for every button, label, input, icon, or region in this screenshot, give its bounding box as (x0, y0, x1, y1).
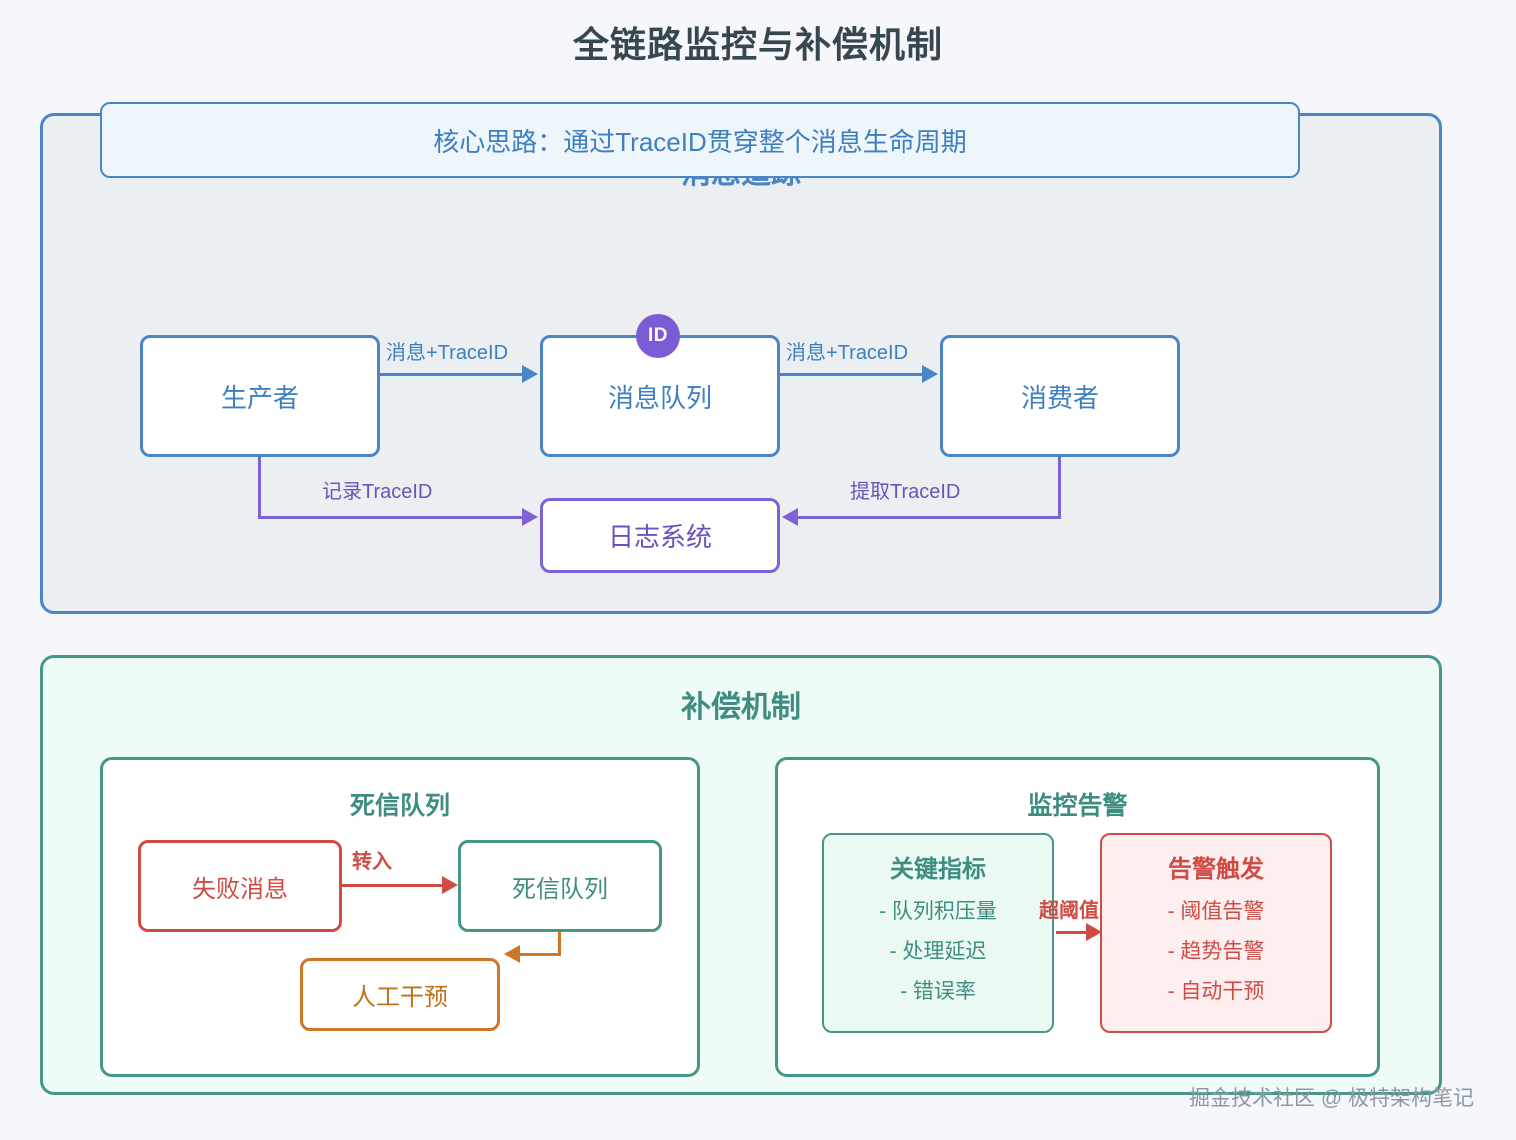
edge-metrics-alerts-line (1056, 931, 1086, 934)
edge-producer-queue-arrowhead (522, 365, 538, 383)
edge-producer-queue-line (380, 373, 522, 376)
page-title: 全链路监控与补偿机制 (0, 16, 1516, 68)
edge-fail-dlq-line (342, 884, 442, 887)
edge-consumer-log-arrowhead (782, 508, 798, 526)
alert-item-1: - 趋势告警 (1102, 932, 1330, 972)
diagram-root: 全链路监控与补偿机制 消息追踪 核心思路：通过TraceID贯穿整个消息生命周期… (0, 0, 1516, 1140)
node-consumer[interactable]: 消费者 (940, 335, 1180, 457)
edge-label-consumer-log: 提取TraceID (850, 475, 960, 504)
node-manual-intervention[interactable]: 人工干预 (300, 958, 500, 1031)
alert-item-0: - 阈值告警 (1102, 892, 1330, 932)
metric-item-1: - 处理延迟 (824, 932, 1052, 972)
edge-queue-consumer-arrowhead (922, 365, 938, 383)
edge-metrics-alerts-arrowhead (1086, 923, 1102, 941)
edge-queue-consumer-line (780, 373, 922, 376)
subpanel-title-dead-letter-queue: 死信队列 (103, 786, 697, 822)
edge-dlq-manual-hline (520, 953, 561, 956)
metric-item-0: - 队列积压量 (824, 892, 1052, 932)
edge-producer-log-hline (258, 516, 522, 519)
edge-producer-log-arrowhead (522, 508, 538, 526)
node-producer[interactable]: 生产者 (140, 335, 380, 457)
edge-consumer-log-vline (1058, 457, 1061, 519)
trace-id-badge: ID (636, 314, 680, 358)
edge-producer-log-vline (258, 457, 261, 519)
edge-fail-dlq-arrowhead (442, 876, 458, 894)
edge-label-metrics-alerts: 超阈值 (1039, 894, 1099, 923)
metric-item-2: - 错误率 (824, 972, 1052, 1012)
edge-label-fail-dlq: 转入 (352, 845, 392, 874)
card-alert-trigger: 告警触发 - 阈值告警 - 趋势告警 - 自动干预 (1100, 833, 1332, 1033)
edge-consumer-log-hline (798, 516, 1060, 519)
core-idea-banner: 核心思路：通过TraceID贯穿整个消息生命周期 (100, 102, 1300, 178)
alert-item-2: - 自动干预 (1102, 972, 1330, 1012)
node-dead-letter-queue[interactable]: 死信队列 (458, 840, 662, 932)
edge-label-producer-queue: 消息+TraceID (386, 336, 508, 365)
edge-label-queue-consumer: 消息+TraceID (786, 336, 908, 365)
node-log-system[interactable]: 日志系统 (540, 498, 780, 573)
card-title-alert-trigger: 告警触发 (1102, 849, 1330, 884)
card-key-metrics: 关键指标 - 队列积压量 - 处理延迟 - 错误率 (822, 833, 1054, 1033)
card-title-key-metrics: 关键指标 (824, 849, 1052, 884)
watermark: 掘金技术社区 @ 极特架构笔记 (1189, 1082, 1474, 1112)
subpanel-title-monitoring-alert: 监控告警 (778, 786, 1377, 822)
edge-dlq-manual-arrowhead (504, 945, 520, 963)
panel-title-compensation: 补偿机制 (43, 682, 1439, 726)
edge-label-producer-log: 记录TraceID (322, 475, 432, 504)
node-failed-message[interactable]: 失败消息 (138, 840, 342, 932)
